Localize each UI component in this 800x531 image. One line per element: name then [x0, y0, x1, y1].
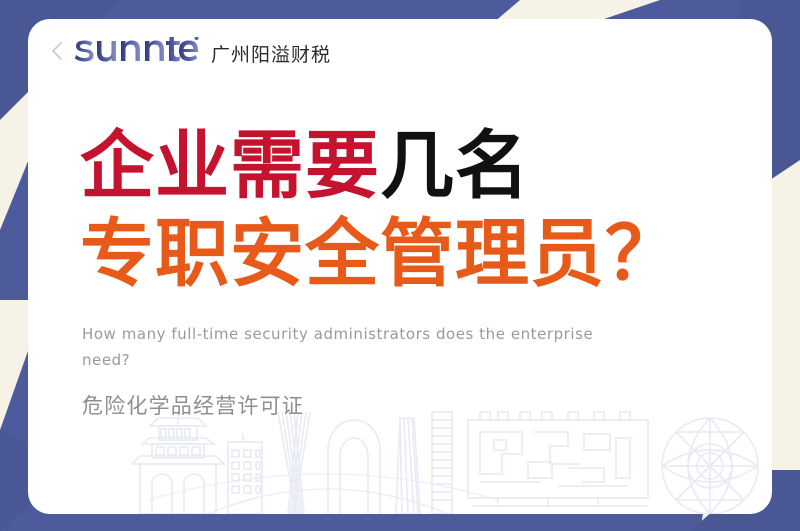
content-card: 广州阳溢财税 企业需要几名 专职安全管理员？ How many full-tim… [28, 19, 772, 514]
pagoda-tower-icon [132, 414, 224, 514]
card-body: 企业需要几名 专职安全管理员？ How many full-time secur… [28, 83, 772, 420]
brand-lockup[interactable]: 广州阳溢财税 [72, 35, 331, 67]
app-header: 广州阳溢财税 [28, 19, 772, 83]
ribbed-tower-icon [432, 412, 452, 514]
sunnite-logo-e-glyph [174, 37, 204, 63]
headline-segment-black: 几名 [380, 123, 530, 209]
subtitle-chinese: 危险化学品经营许可证 [82, 390, 746, 420]
office-building-icon [228, 434, 262, 514]
back-button[interactable] [46, 36, 68, 66]
headline-line-2: 专职安全管理员？ [80, 213, 746, 297]
chevron-left-icon [51, 41, 63, 61]
wireframe-globe-icon [662, 418, 758, 514]
canton-tower-icon [278, 412, 310, 514]
striped-skyscraper-icon [396, 418, 420, 514]
headline-line-1: 企业需要几名 [80, 125, 746, 209]
sunnite-logo [72, 37, 180, 63]
company-name: 广州阳溢财税 [211, 40, 331, 67]
skyline-illustration [28, 404, 772, 514]
circuit-board-icon [468, 412, 648, 506]
arch-bridge-icon [148, 420, 498, 514]
subtitle-english: How many full-time security administrato… [82, 322, 627, 374]
logo-accent-dot [195, 37, 199, 40]
headline-segment-orange: 专职安全管理员？ [80, 211, 680, 297]
headline-segment-red: 企业需要 [80, 123, 380, 209]
